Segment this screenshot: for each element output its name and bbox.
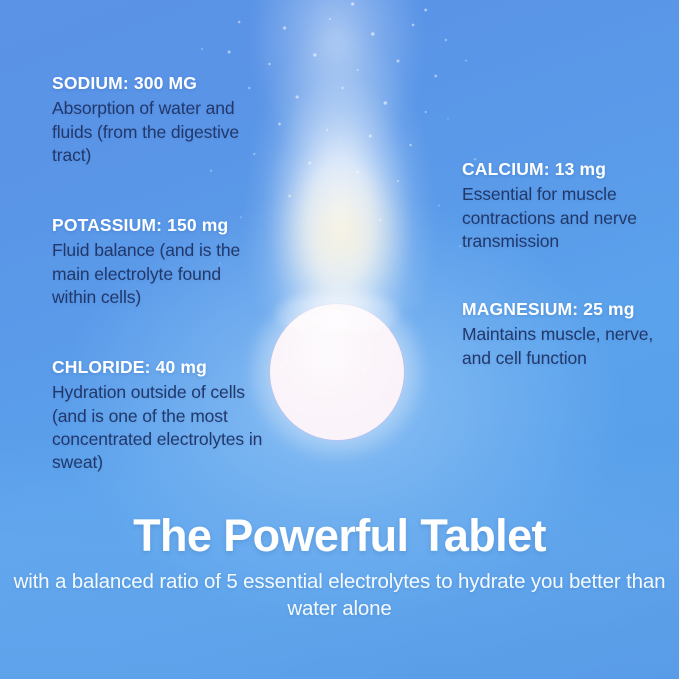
tablet-foam-crown: [275, 290, 398, 336]
fact-calcium-title: CALCIUM: 13 mg: [462, 158, 662, 181]
fact-calcium: CALCIUM: 13 mg Essential for muscle cont…: [462, 158, 662, 253]
fact-chloride: CHLORIDE: 40 mg Hydration outside of cel…: [52, 356, 277, 474]
fact-chloride-title: CHLORIDE: 40 mg: [52, 356, 277, 379]
headline-title: The Powerful Tablet: [0, 512, 679, 559]
tablet-bubble-texture: [270, 304, 404, 440]
plume-core: [236, 0, 444, 310]
fact-potassium-description: Fluid balance (and is the main electroly…: [52, 239, 267, 309]
fact-sodium-description: Absorption of water and fluids (from the…: [52, 97, 257, 167]
fact-magnesium-description: Maintains muscle, nerve, and cell functi…: [462, 323, 667, 370]
fact-potassium: POTASSIUM: 150 mg Fluid balance (and is …: [52, 214, 267, 309]
headline-block: The Powerful Tablet with a balanced rati…: [0, 512, 679, 622]
tablet-image: [270, 304, 404, 440]
headline-subtitle: with a balanced ratio of 5 essential ele…: [0, 568, 679, 622]
plume-tail: [253, 0, 428, 167]
fact-potassium-title: POTASSIUM: 150 mg: [52, 214, 267, 237]
fact-sodium: SODIUM: 300 MG Absorption of water and f…: [52, 72, 257, 167]
fact-chloride-description: Hydration outside of cells (and is one o…: [52, 381, 277, 474]
tablet-body: [270, 304, 404, 440]
fact-magnesium-title: MAGNESIUM: 25 mg: [462, 298, 667, 321]
fact-magnesium: MAGNESIUM: 25 mg Maintains muscle, nerve…: [462, 298, 667, 370]
fact-sodium-title: SODIUM: 300 MG: [52, 72, 257, 95]
fact-calcium-description: Essential for muscle contractions and ne…: [462, 183, 662, 253]
plume-warm-tint: [282, 167, 403, 303]
electrolyte-tablet-infographic: SODIUM: 300 MG Absorption of water and f…: [0, 0, 679, 679]
effervescent-plume: [236, 0, 444, 310]
